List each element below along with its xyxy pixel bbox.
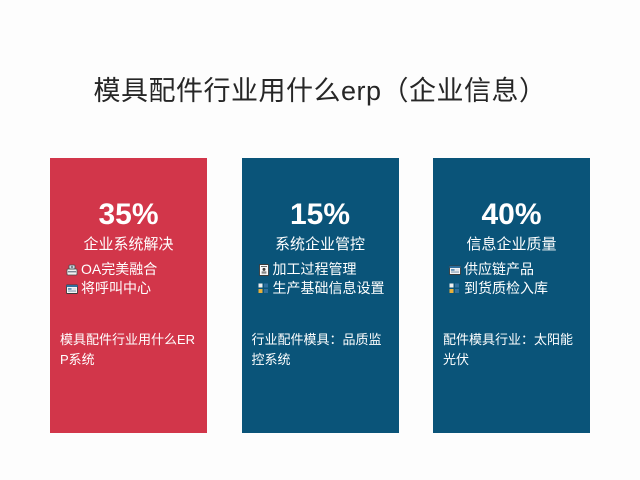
window-table-icon	[65, 282, 79, 296]
stat-card-2-body: 行业配件模具：品质监控系统	[252, 330, 391, 370]
stat-card-3-bullets: 供应链产品 到货质检入库	[442, 260, 581, 298]
bullet-item[interactable]: 供应链产品	[448, 260, 581, 279]
stat-card-1-bullets: OA完美融合 将呼叫中心	[59, 260, 198, 298]
bullet-item[interactable]: OA完美融合	[65, 260, 198, 279]
bullet-label: 生产基础信息设置	[273, 279, 385, 298]
stat-card-2-content: 15% 系统企业管控 加工过程管理	[242, 198, 399, 298]
bullet-label: 加工过程管理	[273, 260, 357, 279]
bullet-label: 将呼叫中心	[81, 279, 151, 298]
bullet-label: 供应链产品	[464, 260, 534, 279]
stat-card-1-percent: 35%	[59, 198, 198, 232]
stat-card-1-subtitle: 企业系统解决	[59, 234, 198, 256]
window-table-icon	[448, 263, 462, 277]
stat-card-1-body: 模具配件行业用什么ERP系统	[60, 330, 199, 370]
bullet-label: 到货质检入库	[464, 279, 548, 298]
stat-card-2-bullets: 加工过程管理 生产基础信息设置	[251, 260, 390, 298]
bullet-item[interactable]: 生产基础信息设置	[257, 279, 390, 298]
slide-canvas: 模具配件行业用什么erp（企业信息） 35% 企业系统解决	[0, 0, 640, 480]
stat-card-3-content: 40% 信息企业质量 供应链产品	[433, 198, 590, 298]
stat-card-1[interactable]: 35% 企业系统解决 OA完美融合	[50, 158, 207, 433]
stat-card-3-percent: 40%	[442, 198, 581, 232]
bullet-item[interactable]: 加工过程管理	[257, 260, 390, 279]
stat-card-row: 35% 企业系统解决 OA完美融合	[50, 158, 590, 433]
stat-card-3-subtitle: 信息企业质量	[442, 234, 581, 256]
bullet-label: OA完美融合	[81, 260, 157, 279]
bullet-item[interactable]: 到货质检入库	[448, 279, 581, 298]
org-blocks-icon	[257, 282, 271, 296]
stat-card-3-body: 配件模具行业：太阳能光伏	[443, 330, 582, 370]
stat-card-2[interactable]: 15% 系统企业管控 加工过程管理	[242, 158, 399, 433]
bullet-item[interactable]: 将呼叫中心	[65, 279, 198, 298]
stat-card-1-content: 35% 企业系统解决 OA完美融合	[50, 198, 207, 298]
stat-card-2-subtitle: 系统企业管控	[251, 234, 390, 256]
page-title: 模具配件行业用什么erp（企业信息）	[0, 74, 640, 108]
stat-card-3[interactable]: 40% 信息企业质量 供应链产品	[433, 158, 590, 433]
machine-icon	[65, 263, 79, 277]
stat-card-2-percent: 15%	[251, 198, 390, 232]
org-blocks-icon	[448, 282, 462, 296]
document-form-icon	[257, 263, 271, 277]
